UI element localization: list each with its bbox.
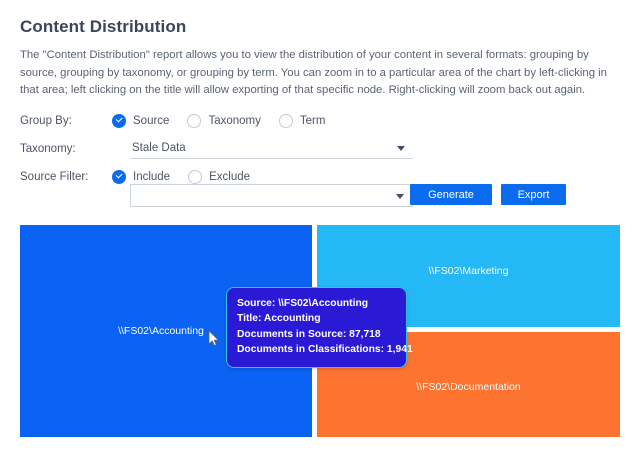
radio-option-exclude[interactable]: Exclude xyxy=(188,170,250,184)
treemap-tile-label: \\FS02\Marketing xyxy=(429,265,509,277)
source-filter-select[interactable] xyxy=(130,184,413,207)
taxonomy-label: Taxonomy: xyxy=(20,143,112,155)
treemap-tile-label: \\FS02\Accounting xyxy=(118,325,204,337)
generate-button[interactable]: Generate xyxy=(410,184,492,205)
radio-label-exclude: Exclude xyxy=(209,171,250,183)
radio-label-term: Term xyxy=(300,115,326,127)
group-by-radio-group: Source Taxonomy Term xyxy=(112,114,343,128)
radio-label-include: Include xyxy=(133,171,170,183)
radio-unchecked-icon xyxy=(279,114,293,128)
group-by-row: Group By: Source Taxonomy Term xyxy=(20,110,343,132)
source-filter-radio-group: Include Exclude xyxy=(112,170,268,184)
treemap-tooltip: Source: \\FS02\Accounting Title: Account… xyxy=(226,287,407,368)
radio-label-source: Source xyxy=(133,115,169,127)
source-filter-label: Source Filter: xyxy=(20,171,112,183)
radio-option-taxonomy[interactable]: Taxonomy xyxy=(187,114,260,128)
treemap-tile-label: \\FS02\Documentation xyxy=(416,381,520,393)
radio-checked-icon xyxy=(112,114,126,128)
radio-checked-icon xyxy=(112,170,126,184)
radio-unchecked-icon xyxy=(188,170,202,184)
group-by-label: Group By: xyxy=(20,115,112,127)
page-title: Content Distribution xyxy=(20,17,186,37)
taxonomy-select[interactable]: Stale Data xyxy=(130,138,413,159)
radio-option-term[interactable]: Term xyxy=(279,114,326,128)
tooltip-title: Title: Accounting xyxy=(237,311,397,326)
radio-option-source[interactable]: Source xyxy=(112,114,169,128)
chevron-down-icon xyxy=(397,146,405,151)
taxonomy-select-value: Stale Data xyxy=(130,142,186,154)
tooltip-source: Source: \\FS02\Accounting xyxy=(237,296,397,311)
page-description: The "Content Distribution" report allows… xyxy=(20,47,620,100)
taxonomy-row: Taxonomy: xyxy=(20,138,112,160)
export-button[interactable]: Export xyxy=(501,184,566,205)
tooltip-documents-in-source: Documents in Source: 87,718 xyxy=(237,327,397,342)
chevron-down-icon xyxy=(396,194,404,199)
radio-option-include[interactable]: Include xyxy=(112,170,170,184)
tooltip-documents-in-classifications: Documents in Classifications: 1,941 xyxy=(237,342,397,357)
radio-unchecked-icon xyxy=(187,114,201,128)
radio-label-taxonomy: Taxonomy xyxy=(208,115,260,127)
content-distribution-page: Content Distribution The "Content Distri… xyxy=(0,0,640,450)
